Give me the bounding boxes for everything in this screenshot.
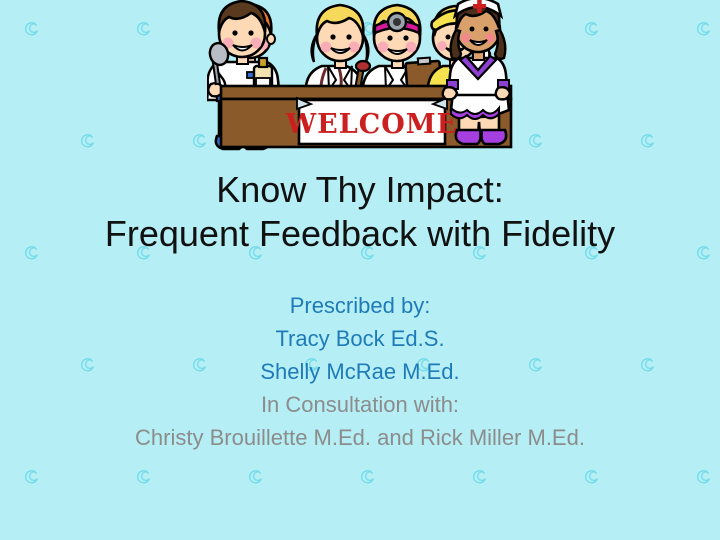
swirl-decoration-icon [78, 130, 98, 150]
subtitle-line-2: Tracy Bock Ed.S. [0, 322, 720, 355]
welcome-sign-text: WELCOME [285, 109, 458, 140]
swirl-decoration-icon [246, 466, 266, 486]
subtitle-line-4: In Consultation with: [0, 388, 720, 421]
subtitle-line-1: Prescribed by: [0, 289, 720, 322]
swirl-decoration-icon [582, 18, 602, 38]
title-line-1: Know Thy Impact: [0, 168, 720, 212]
swirl-decoration-icon [134, 18, 154, 38]
subtitle-line-3: Shelly McRae M.Ed. [0, 355, 720, 388]
slide-subtitle: Prescribed by: Tracy Bock Ed.S. Shelly M… [0, 289, 720, 454]
swirl-decoration-icon [582, 466, 602, 486]
swirl-decoration-icon [22, 466, 42, 486]
swirl-decoration-icon [358, 466, 378, 486]
swirl-decoration-icon [638, 130, 658, 150]
subtitle-line-5: Christy Brouillette M.Ed. and Rick Mille… [0, 421, 720, 454]
swirl-decoration-icon [694, 18, 714, 38]
slide-title: Know Thy Impact: Frequent Feedback with … [0, 168, 720, 256]
swirl-decoration-icon [134, 466, 154, 486]
swirl-decoration-icon [22, 18, 42, 38]
welcome-medical-kids-clipart: WELCOME [207, 0, 537, 160]
title-line-2: Frequent Feedback with Fidelity [0, 212, 720, 256]
swirl-decoration-icon [694, 466, 714, 486]
presentation-slide: WELCOME [0, 0, 720, 540]
swirl-decoration-icon [470, 466, 490, 486]
